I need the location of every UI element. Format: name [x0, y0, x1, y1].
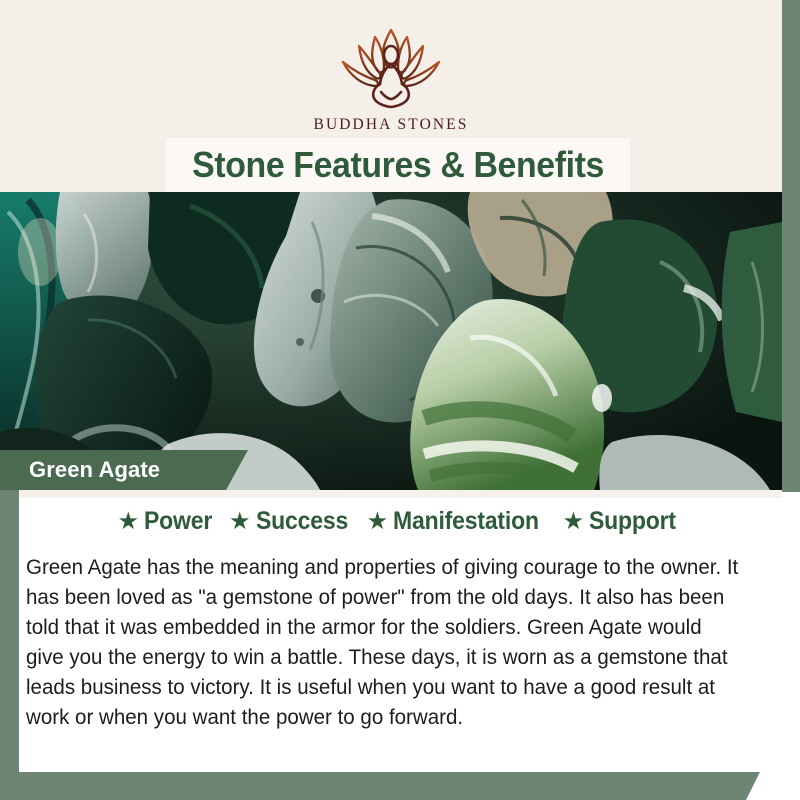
page-title: Stone Features & Benefits — [192, 144, 604, 186]
benefit-success: ★ Success — [229, 507, 356, 536]
header: BUDDHA STONES Stone Features & Benefits — [0, 0, 782, 192]
decor-bottom-band — [0, 772, 760, 800]
stone-description: Green Agate has the meaning and properti… — [26, 552, 740, 732]
benefits-row: ★ Power ★ Success ★ Manifestation ★ Supp… — [19, 507, 782, 536]
content-top-band — [19, 490, 782, 498]
star-icon: ★ — [563, 510, 585, 534]
brand-name: BUDDHA STONES — [314, 116, 469, 134]
content-area: ★ Power ★ Success ★ Manifestation ★ Supp… — [19, 490, 782, 772]
decor-bottom-white-gap — [19, 760, 800, 772]
benefit-manifestation: ★ Manifestation — [367, 507, 552, 536]
brand-logo: BUDDHA STONES — [0, 22, 782, 134]
benefit-support: ★ Support — [563, 507, 684, 536]
stone-name: Green Agate — [29, 457, 160, 483]
star-icon: ★ — [117, 510, 139, 534]
stone-name-banner: Green Agate — [0, 450, 248, 490]
lotus-meditation-icon — [331, 22, 451, 114]
title-plate: Stone Features & Benefits — [166, 138, 630, 192]
benefit-label: Power — [144, 507, 212, 536]
benefit-label: Support — [589, 507, 676, 536]
star-icon: ★ — [229, 510, 251, 534]
decor-left-strip — [0, 489, 19, 800]
stone-photo — [0, 192, 782, 490]
decor-right-strip — [782, 0, 800, 492]
infographic-page: BUDDHA STONES Stone Features & Benefits — [0, 0, 800, 800]
benefit-power: ★ Power — [117, 507, 218, 536]
benefit-label: Manifestation — [393, 507, 539, 536]
star-icon: ★ — [367, 510, 389, 534]
benefit-label: Success — [256, 507, 348, 536]
